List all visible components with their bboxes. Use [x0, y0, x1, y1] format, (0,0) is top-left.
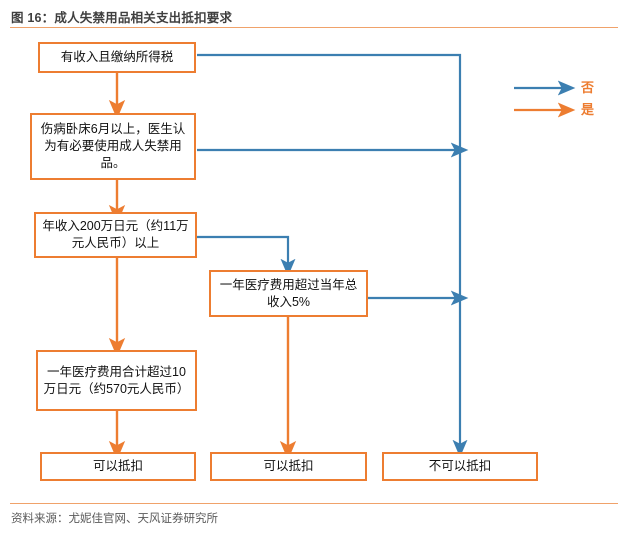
node-annual-income[interactable]: 年收入200万日元（约11万元人民币）以上 [34, 212, 197, 258]
figure-canvas: 图 16：成人失禁用品相关支出抵扣要求 有收入且缴纳所 [0, 0, 630, 533]
node-medical-over-100k[interactable]: 一年医疗费用合计超过10万日元（约570元人民币） [36, 350, 197, 411]
edge-no-income200-to-5pct [197, 237, 288, 268]
node-bedridden-label: 伤病卧床6月以上，医生认为有必要使用成人失禁用品。 [37, 121, 189, 172]
node-medical-over-100k-label: 一年医疗费用合计超过10万日元（约570元人民币） [43, 364, 190, 398]
node-result-deductible-left[interactable]: 可以抵扣 [40, 452, 196, 481]
node-income-tax-label: 有收入且缴纳所得税 [61, 49, 174, 66]
edge-no-income-to-trunk [197, 55, 460, 150]
node-result-not-deductible[interactable]: 不可以抵扣 [382, 452, 538, 481]
source-divider [10, 503, 618, 504]
node-result-not-deductible-label: 不可以抵扣 [429, 458, 492, 475]
node-result-deductible-mid-label: 可以抵扣 [263, 458, 313, 475]
legend-label-no: 否 [581, 77, 594, 96]
node-result-deductible-mid[interactable]: 可以抵扣 [210, 452, 367, 481]
figure-source: 资料来源：尤妮佳官网、天风证券研究所 [11, 510, 218, 526]
legend: 否 是 [513, 80, 613, 124]
legend-item-yes: 是 [513, 102, 613, 122]
legend-label-yes: 是 [581, 99, 594, 118]
node-bedridden[interactable]: 伤病卧床6月以上，医生认为有必要使用成人失禁用品。 [30, 113, 196, 180]
legend-item-no: 否 [513, 80, 613, 100]
arrow-right-orange-icon [513, 102, 579, 118]
node-result-deductible-left-label: 可以抵扣 [93, 458, 143, 475]
arrow-right-blue-icon [513, 80, 579, 96]
node-medical-over-5pct-label: 一年医疗费用超过当年总收入5% [216, 277, 361, 311]
node-medical-over-5pct[interactable]: 一年医疗费用超过当年总收入5% [209, 270, 368, 317]
node-annual-income-label: 年收入200万日元（约11万元人民币）以上 [41, 218, 190, 252]
node-income-tax[interactable]: 有收入且缴纳所得税 [38, 42, 196, 73]
